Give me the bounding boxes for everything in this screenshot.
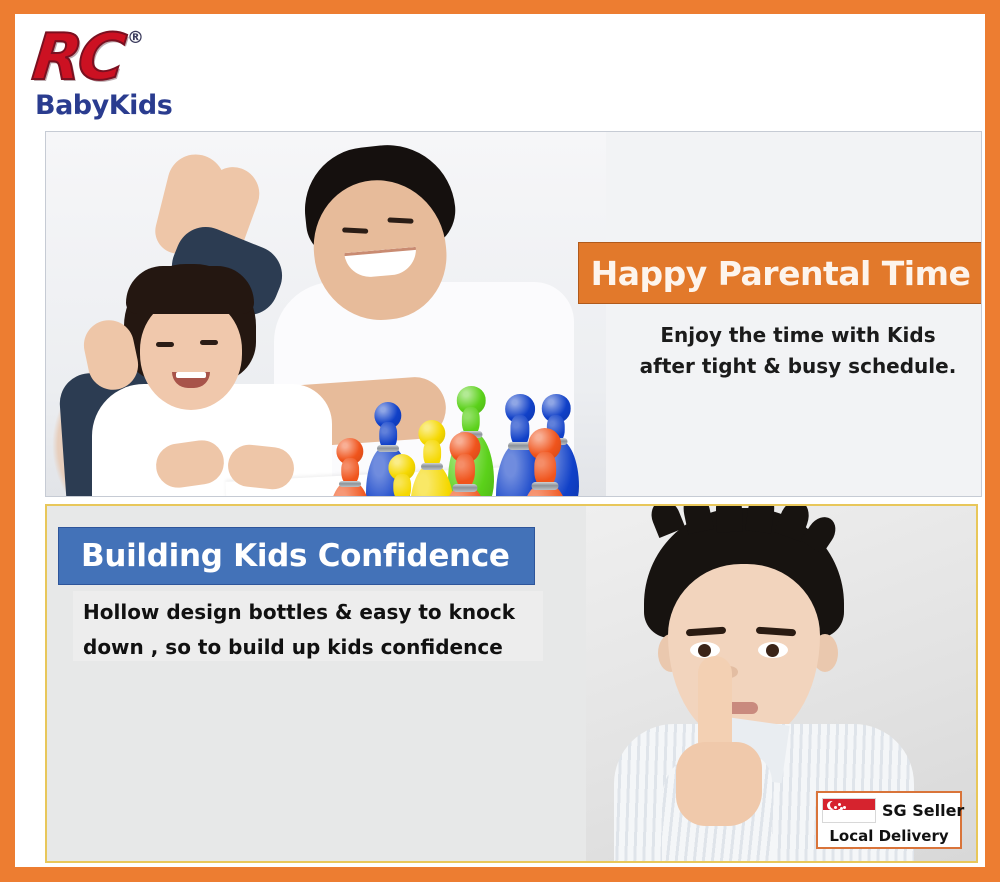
- eye-shape: [387, 217, 413, 223]
- logo-babykids-text: BabyKids: [35, 90, 172, 121]
- subtitle-line-1: Enjoy the time with Kids: [608, 320, 982, 351]
- eye-shape: [156, 342, 174, 347]
- registered-trademark-icon: ®: [127, 28, 144, 48]
- bowling-pin: [380, 454, 424, 497]
- pin-band: [339, 481, 361, 488]
- bottom-feature-panel: Building Kids Confidence Hollow design b…: [45, 504, 978, 863]
- bottom-panel-subtitle: Hollow design bottles & easy to knock do…: [73, 591, 543, 661]
- girl-face: [140, 298, 242, 410]
- inner-white-canvas: RC ® BabyKids: [15, 14, 985, 867]
- bowling-pin: [328, 438, 372, 497]
- pin-band: [453, 484, 478, 492]
- banner-title: Happy Parental Time: [591, 254, 971, 293]
- singapore-flag-icon: [822, 798, 876, 823]
- bowling-pin: [440, 432, 490, 497]
- subtitle-line-1: Hollow design bottles & easy to knock: [83, 595, 533, 630]
- eye-shape: [758, 642, 788, 658]
- sg-seller-badge: SG Seller Local Delivery: [816, 791, 962, 849]
- pin-neck: [393, 474, 411, 497]
- bowling-pin: [518, 428, 572, 497]
- eye-shape: [200, 340, 218, 345]
- happy-parental-time-banner: Happy Parental Time: [578, 242, 982, 304]
- top-feature-panel: Happy Parental Time Enjoy the time with …: [45, 131, 982, 497]
- logo-rc-text: RC: [30, 26, 125, 90]
- building-kids-confidence-banner: Building Kids Confidence: [58, 527, 535, 585]
- banner-title: Building Kids Confidence: [81, 538, 510, 574]
- mouth-shape: [172, 372, 210, 388]
- brand-logo[interactable]: RC ® BabyKids: [33, 26, 213, 124]
- subtitle-line-2: after tight & busy schedule.: [608, 351, 982, 382]
- subtitle-line-2: down , so to build up kids confidence: [83, 630, 533, 665]
- hair-spike: [715, 506, 743, 532]
- local-delivery-label: Local Delivery: [822, 824, 956, 848]
- sg-seller-label: SG Seller: [882, 801, 964, 820]
- girl-bangs: [126, 266, 254, 314]
- eye-shape: [342, 227, 368, 233]
- boy-fist: [676, 742, 762, 826]
- pin-band: [377, 445, 399, 452]
- top-panel-subtitle: Enjoy the time with Kids after tight & b…: [608, 320, 982, 382]
- outer-orange-frame: RC ® BabyKids: [0, 0, 1000, 882]
- pin-band: [532, 482, 559, 490]
- bowling-pins-top: [318, 380, 628, 497]
